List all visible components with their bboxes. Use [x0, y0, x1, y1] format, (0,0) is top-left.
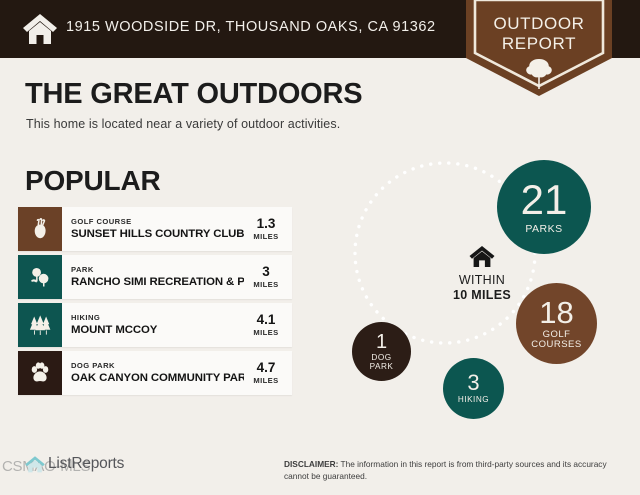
distance-value: 1.3	[257, 217, 276, 231]
list-item[interactable]: GOLF COURSE SUNSET HILLS COUNTRY CLUB 1.…	[18, 207, 292, 251]
stat-bubble-hiking[interactable]: 3 HIKING	[443, 358, 504, 419]
infographic-center: WITHIN 10 MILES	[422, 245, 542, 303]
house-logo-icon	[24, 454, 46, 474]
list-item-text: PARK RANCHO SIMI RECREATION & PARK	[62, 255, 244, 299]
tree-icon	[525, 58, 553, 90]
hiking-pines-icon	[18, 303, 62, 347]
badge-line-1: OUTDOOR	[493, 14, 584, 33]
popular-list: GOLF COURSE SUNSET HILLS COUNTRY CLUB 1.…	[18, 207, 292, 399]
listreports-logo[interactable]: ListReports	[24, 452, 124, 476]
disclaimer: DISCLAIMER: The information in this repo…	[284, 459, 614, 482]
list-item-distance: 4.1 MILES	[244, 303, 292, 347]
list-item-name: MOUNT MCCOY	[71, 323, 244, 337]
stat-bubble-parks[interactable]: 21 PARKS	[497, 160, 591, 254]
stat-count: 18	[539, 297, 573, 328]
stat-label-line-2: PARK	[370, 363, 394, 372]
list-item-category: PARK	[71, 265, 244, 275]
listreports-logo-text: ListReports	[48, 455, 124, 473]
stat-label-line-2: COURSES	[531, 340, 581, 350]
distance-unit: MILES	[253, 279, 278, 290]
list-item-name: OAK CANYON COMMUNITY PARK	[71, 371, 244, 385]
distance-value: 4.1	[257, 313, 276, 327]
list-item-distance: 4.7 MILES	[244, 351, 292, 395]
page-title: THE GREAT OUTDOORS	[25, 78, 362, 111]
distance-value: 4.7	[257, 361, 276, 375]
park-trees-icon	[18, 255, 62, 299]
outdoor-report-badge: OUTDOOR REPORT	[466, 0, 612, 96]
badge-line-2: REPORT	[466, 34, 612, 54]
list-item-category: GOLF COURSE	[71, 217, 244, 227]
list-item[interactable]: PARK RANCHO SIMI RECREATION & PARK 3 MIL…	[18, 255, 292, 299]
stat-count: 3	[467, 372, 479, 394]
list-item-category: DOG PARK	[71, 361, 244, 371]
list-item-text: GOLF COURSE SUNSET HILLS COUNTRY CLUB	[62, 207, 244, 251]
distance-unit: MILES	[253, 231, 278, 242]
outdoor-report-page: 1915 WOODSIDE DR, THOUSAND OAKS, CA 9136…	[0, 0, 640, 495]
page-subtitle: This home is located near a variety of o…	[26, 117, 340, 131]
list-item[interactable]: DOG PARK OAK CANYON COMMUNITY PARK 4.7 M…	[18, 351, 292, 395]
stat-count: 1	[376, 332, 387, 352]
stat-label: PARKS	[525, 224, 562, 235]
list-item-category: HIKING	[71, 313, 244, 323]
list-item-text: HIKING MOUNT MCCOY	[62, 303, 244, 347]
badge-title: OUTDOOR REPORT	[466, 14, 612, 54]
distance-value: 3	[262, 265, 270, 279]
list-item-text: DOG PARK OAK CANYON COMMUNITY PARK	[62, 351, 244, 395]
house-icon	[469, 245, 495, 268]
list-item-name: SUNSET HILLS COUNTRY CLUB	[71, 227, 244, 241]
within-10-miles-infographic: 21 PARKS 18 GOLF COURSES 1 DOG PARK 3 HI…	[340, 150, 620, 435]
stat-label: HIKING	[458, 396, 489, 405]
distance-unit: MILES	[253, 327, 278, 338]
property-address: 1915 WOODSIDE DR, THOUSAND OAKS, CA 9136…	[66, 19, 436, 35]
disclaimer-label: DISCLAIMER:	[284, 459, 338, 469]
paw-print-icon	[18, 351, 62, 395]
center-line-2: 10 MILES	[422, 288, 542, 303]
list-item[interactable]: HIKING MOUNT MCCOY 4.1 MILES	[18, 303, 292, 347]
center-line-1: WITHIN	[422, 273, 542, 288]
golf-icon	[18, 207, 62, 251]
stat-bubble-dog-park[interactable]: 1 DOG PARK	[352, 322, 411, 381]
popular-heading: POPULAR	[25, 165, 161, 197]
list-item-distance: 1.3 MILES	[244, 207, 292, 251]
list-item-name: RANCHO SIMI RECREATION & PARK	[71, 275, 244, 289]
house-icon	[22, 12, 58, 46]
list-item-distance: 3 MILES	[244, 255, 292, 299]
stat-count: 21	[521, 179, 568, 221]
distance-unit: MILES	[253, 375, 278, 386]
